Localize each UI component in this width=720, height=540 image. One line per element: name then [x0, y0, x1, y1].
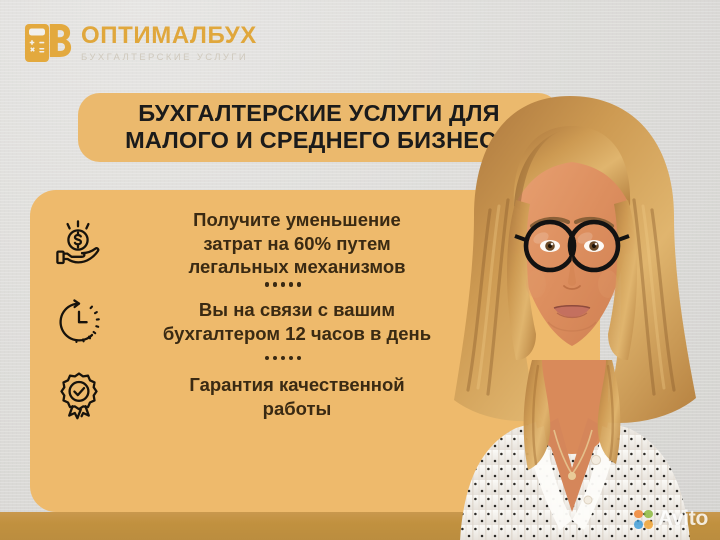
logo-name: ОПТИМАЛБУХ	[81, 24, 257, 48]
advertisement-banner: ОПТИМАЛБУХ БУХГАЛТЕРСКИЕ УСЛУГИ БУХГАЛТЕ…	[0, 0, 720, 540]
feature-item-quality-guarantee: Гарантия качественной работы	[30, 366, 480, 428]
calculator-b-mark-icon	[24, 21, 72, 65]
avito-wordmark: Avito	[658, 507, 708, 531]
clock-icon	[48, 291, 110, 353]
avito-dot-1	[634, 510, 643, 519]
brand-logo[interactable]: ОПТИМАЛБУХ БУХГАЛТЕРСКИЕ УСЛУГИ	[24, 21, 257, 65]
hand-holding-coin-icon	[48, 213, 110, 275]
logo-tagline: БУХГАЛТЕРСКИЕ УСЛУГИ	[81, 53, 257, 63]
feature-item-cost-reduction: Получите уменьшение затрат на 60% путем …	[30, 208, 480, 279]
separator-dots	[30, 356, 480, 361]
portrait-photo	[420, 60, 720, 540]
feature-item-availability: Вы на связи с вашим бухгалтером 12 часов…	[30, 291, 480, 353]
avito-dot-4	[644, 520, 653, 529]
avito-watermark: Avito	[634, 507, 708, 531]
features-list: Получите уменьшение затрат на 60% путем …	[30, 190, 480, 512]
quality-badge-check-icon	[48, 366, 110, 428]
logo-wordmark-group: ОПТИМАЛБУХ БУХГАЛТЕРСКИЕ УСЛУГИ	[81, 23, 257, 63]
separator-dots	[30, 282, 480, 287]
avito-dots-icon	[634, 510, 653, 529]
avito-dot-3	[634, 520, 643, 529]
avito-dot-2	[644, 510, 653, 519]
